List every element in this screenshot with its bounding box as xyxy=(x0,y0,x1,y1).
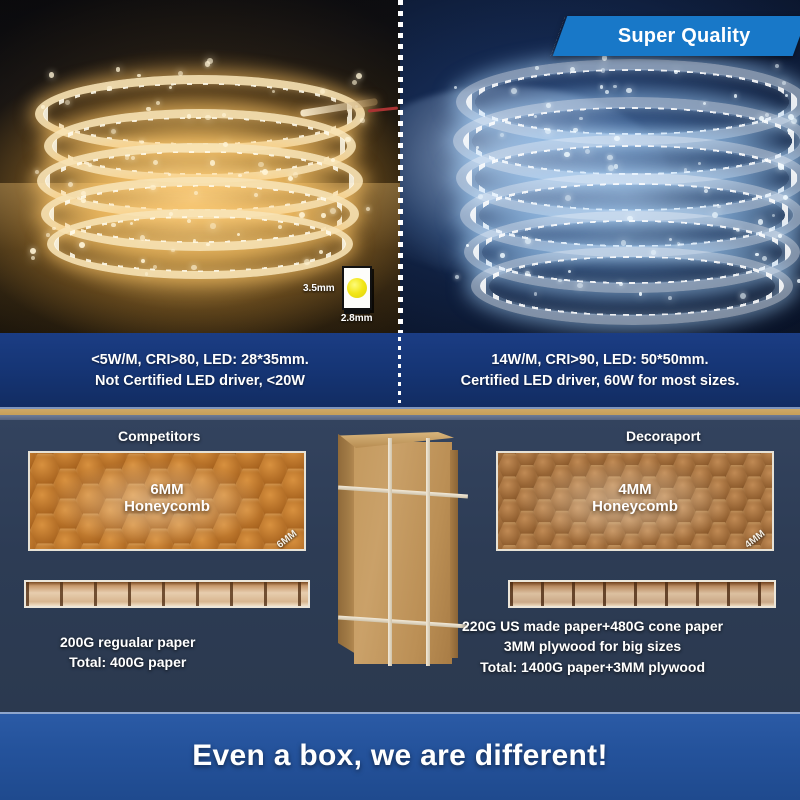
spec-comparison-band: <5W/M, CRI>80, LED: 28*35mm. Not Certifi… xyxy=(0,333,800,407)
tagline-banner: Even a box, we are different! xyxy=(0,712,800,800)
led-point xyxy=(49,72,54,77)
led-point xyxy=(30,248,36,254)
led-point xyxy=(775,64,779,68)
edge-cell-texture xyxy=(510,582,774,606)
edge-cell-texture xyxy=(26,582,308,606)
led-point xyxy=(205,61,210,66)
product-photo-row: 3.5mm 2.8mm xyxy=(0,0,800,333)
honeycomb-panel-decoraport: 4MM Honeycomb 4MM xyxy=(496,451,774,551)
honeycomb-panel-competitor: 6MM Honeycomb 6MM xyxy=(28,451,306,551)
spec-line-1: <5W/M, CRI>80, LED: 28*35mm. xyxy=(91,352,309,368)
caption-competitor: 200G regualar paper Total: 400G paper xyxy=(60,632,195,673)
honeycomb-word: Honeycomb xyxy=(124,498,210,515)
led-point xyxy=(455,275,459,279)
caption-decoraport: 220G US made paper+480G cone paper 3MM p… xyxy=(462,616,723,677)
column-title-competitors: Competitors xyxy=(118,428,200,444)
spec-line-2: Certified LED driver, 60W for most sizes… xyxy=(461,373,740,389)
competitor-led-photo: 3.5mm 2.8mm xyxy=(0,0,400,333)
led-ring xyxy=(471,247,793,325)
carton-strap xyxy=(388,438,392,666)
honeycomb-edge-decoraport xyxy=(508,580,776,608)
led-point xyxy=(31,256,35,260)
packaging-comparison-section: Competitors Decoraport 6MM Honeycomb 6MM… xyxy=(0,420,800,712)
honeycomb-size: 6MM xyxy=(124,481,210,498)
super-quality-label: Super Quality xyxy=(618,25,751,48)
spec-column-decoraport: 14W/M, CRI>90, LED: 50*50mm. Certified L… xyxy=(400,333,800,407)
spec-line-2: Not Certified LED driver, <20W xyxy=(95,373,305,389)
caption-line-1: 200G regualar paper xyxy=(60,632,195,652)
carton-front-panel xyxy=(354,442,452,664)
super-quality-ribbon: Super Quality xyxy=(553,16,800,56)
carton-strap xyxy=(426,438,430,666)
photo-divider xyxy=(398,0,403,333)
honeycomb-label: 6MM Honeycomb xyxy=(124,481,210,516)
section-divider xyxy=(0,407,800,420)
chip-height-label: 3.5mm xyxy=(303,283,335,294)
chip-width-label: 2.8mm xyxy=(341,313,373,324)
led-point xyxy=(366,207,370,211)
led-chip-diagram: 2.8mm xyxy=(342,266,372,310)
spec-column-competitor: <5W/M, CRI>80, LED: 28*35mm. Not Certifi… xyxy=(0,333,400,407)
tagline-text: Even a box, we are different! xyxy=(192,739,608,773)
caption-line-3: Total: 1400G paper+3MM plywood xyxy=(462,657,723,677)
warm-led-coil xyxy=(30,57,370,277)
honeycomb-edge-competitor xyxy=(24,580,310,608)
led-point xyxy=(116,67,120,71)
led-phosphor-dot xyxy=(347,278,367,298)
led-point xyxy=(207,58,213,64)
shipping-carton xyxy=(338,428,468,666)
column-title-decoraport: Decoraport xyxy=(626,428,701,444)
led-point xyxy=(352,80,357,85)
honeycomb-word: Honeycomb xyxy=(592,498,678,515)
infographic-poster: 3.5mm 2.8mm xyxy=(0,0,800,800)
honeycomb-label: 4MM Honeycomb xyxy=(592,481,678,516)
caption-line-2: Total: 400G paper xyxy=(60,652,195,672)
led-chip-callout-competitor: 3.5mm 2.8mm xyxy=(303,266,372,310)
led-point xyxy=(454,86,457,89)
led-point xyxy=(356,73,362,79)
caption-line-1: 220G US made paper+480G cone paper xyxy=(462,616,723,636)
honeycomb-size: 4MM xyxy=(592,481,678,498)
caption-line-2: 3MM plywood for big sizes xyxy=(462,636,723,656)
spec-line-1: 14W/M, CRI>90, LED: 50*50mm. xyxy=(491,352,708,368)
cool-led-coil xyxy=(452,55,800,305)
